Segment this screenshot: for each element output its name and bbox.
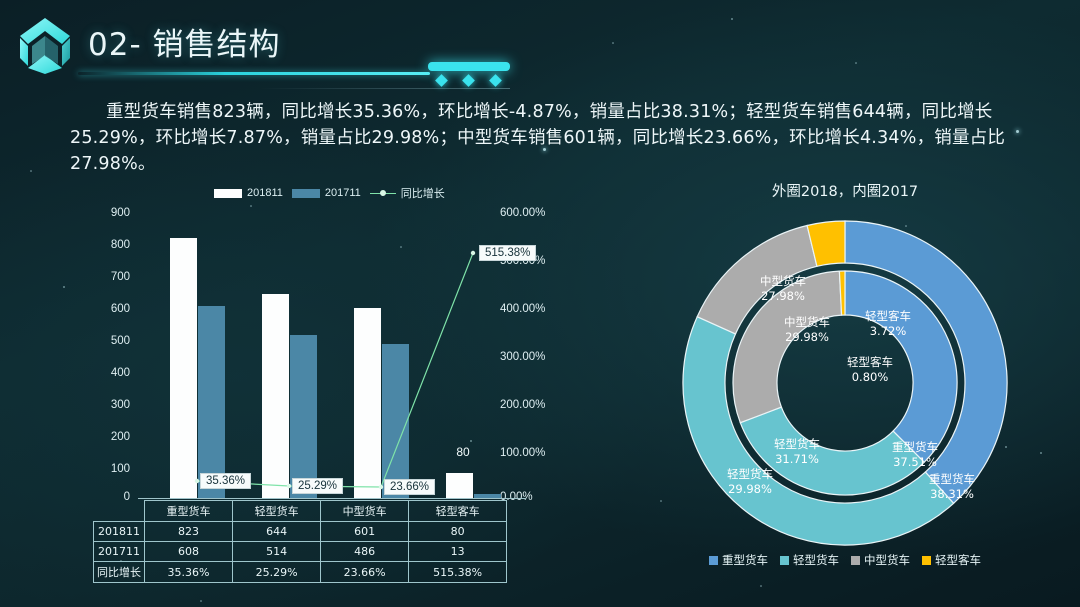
legend-label: 同比增长 bbox=[401, 185, 445, 201]
outer-label-light-truck-name: 轻型货车 bbox=[727, 467, 773, 481]
growth-line-series bbox=[138, 213, 526, 498]
table-row: 201711 608 514 486 13 bbox=[94, 542, 507, 562]
table-row: 201811 823 644 601 80 bbox=[94, 522, 507, 542]
legend-label: 201811 bbox=[247, 187, 283, 199]
inner-label-light-bus-value: 0.80% bbox=[852, 370, 889, 384]
legend-label: 轻型货车 bbox=[793, 552, 839, 568]
table-cell: 25.29% bbox=[233, 562, 321, 583]
outer-label-medium-truck-name: 中型货车 bbox=[760, 274, 806, 288]
table-cell: 608 bbox=[145, 542, 233, 562]
legend-line-icon bbox=[370, 189, 396, 198]
data-table: 重型货车 轻型货车 中型货车 轻型客车 201811 823 644 601 8… bbox=[93, 500, 507, 583]
table-cell: 35.36% bbox=[145, 562, 233, 583]
outer-label-medium-truck-value: 27.98% bbox=[761, 289, 805, 303]
table-cell: 515.38% bbox=[409, 562, 507, 583]
accent-diamond-icon bbox=[489, 74, 502, 87]
table-col-header: 轻型货车 bbox=[233, 501, 321, 522]
y-axis-tick: 300 bbox=[96, 399, 130, 411]
donut-chart: 外圈2018，内圈2017 bbox=[620, 180, 1070, 580]
table-cell: 23.66% bbox=[321, 562, 409, 583]
table-header-row: 重型货车 轻型货车 中型货车 轻型客车 bbox=[94, 501, 507, 522]
legend-swatch-icon bbox=[922, 556, 931, 565]
y-axis-tick: 100 bbox=[96, 463, 130, 475]
table-cell: 644 bbox=[233, 522, 321, 542]
accent-diamond-icon bbox=[435, 74, 448, 87]
inner-label-medium-truck-name: 中型货车 bbox=[784, 315, 830, 329]
inner-label-heavy-truck-value: 37.51% bbox=[893, 455, 937, 469]
legend-item-growth: 同比增长 bbox=[370, 185, 445, 201]
outer-label-light-bus-name: 轻型客车 bbox=[865, 309, 911, 323]
bar-chart-legend: 201811 201711 同比增长 bbox=[214, 186, 445, 200]
growth-callout-1: 25.29% bbox=[292, 478, 343, 494]
y-axis-tick: 700 bbox=[96, 271, 130, 283]
table-cell: 486 bbox=[321, 542, 409, 562]
table-row-header: 同比增长 bbox=[94, 562, 145, 583]
legend-label: 重型货车 bbox=[722, 552, 768, 568]
y-axis-tick: 600 bbox=[96, 303, 130, 315]
table-cell: 823 bbox=[145, 522, 233, 542]
title-accent-bar bbox=[428, 62, 510, 71]
outer-label-light-bus-value: 3.72% bbox=[870, 324, 907, 338]
legend-label: 201711 bbox=[325, 187, 361, 199]
legend-swatch-icon bbox=[780, 556, 789, 565]
y-axis-tick: 500 bbox=[96, 335, 130, 347]
title-underline-secondary bbox=[260, 88, 510, 89]
legend-item-201811: 201811 bbox=[214, 187, 283, 199]
legend-item-medium-truck: 中型货车 bbox=[851, 552, 910, 568]
table-cell: 13 bbox=[409, 542, 507, 562]
legend-item-light-bus: 轻型客车 bbox=[922, 552, 981, 568]
legend-label: 中型货车 bbox=[864, 552, 910, 568]
legend-swatch-icon bbox=[292, 189, 320, 198]
y-axis-tick: 400 bbox=[96, 367, 130, 379]
inner-label-medium-truck-value: 29.98% bbox=[785, 330, 829, 344]
table-row: 同比增长 35.36% 25.29% 23.66% 515.38% bbox=[94, 562, 507, 583]
table-cell: 80 bbox=[409, 522, 507, 542]
legend-item-201711: 201711 bbox=[292, 187, 361, 199]
table-col-header: 轻型客车 bbox=[409, 501, 507, 522]
legend-item-light-truck: 轻型货车 bbox=[780, 552, 839, 568]
donut-chart-svg: 重型货车 37.51% 轻型货车 31.71% 中型货车 29.98% 轻型客车… bbox=[645, 218, 1045, 548]
legend-swatch-icon bbox=[851, 556, 860, 565]
title-underline bbox=[78, 72, 430, 75]
accent-diamond-icon bbox=[462, 74, 475, 87]
growth-callout-2: 23.66% bbox=[384, 479, 435, 495]
table-col-header: 重型货车 bbox=[145, 501, 233, 522]
legend-item-heavy-truck: 重型货车 bbox=[709, 552, 768, 568]
inner-label-light-truck-name: 轻型货车 bbox=[774, 437, 820, 451]
bar-plot-area: 823 644 601 80 35.36% 25.29% bbox=[138, 213, 526, 498]
growth-callout-3: 515.38% bbox=[479, 245, 536, 261]
diamond-logo-icon bbox=[14, 14, 76, 76]
legend-label: 轻型客车 bbox=[935, 552, 981, 568]
y-axis-tick: 900 bbox=[96, 207, 130, 219]
x-axis-line bbox=[138, 498, 526, 499]
outer-label-heavy-truck-name: 重型货车 bbox=[929, 472, 975, 486]
y-axis-tick: 800 bbox=[96, 239, 130, 251]
table-col-header: 中型货车 bbox=[321, 501, 409, 522]
table-corner-cell bbox=[94, 501, 145, 522]
donut-chart-title: 外圈2018，内圈2017 bbox=[620, 180, 1070, 201]
outer-label-light-truck-value: 29.98% bbox=[728, 482, 772, 496]
legend-swatch-icon bbox=[709, 556, 718, 565]
inner-label-light-truck-value: 31.71% bbox=[775, 452, 819, 466]
page-title: 02- 销售结构 bbox=[88, 19, 281, 64]
legend-swatch-icon bbox=[214, 189, 242, 198]
y-axis-tick: 200 bbox=[96, 431, 130, 443]
table-row-header: 201811 bbox=[94, 522, 145, 542]
table-cell: 514 bbox=[233, 542, 321, 562]
slide-canvas: 02- 销售结构 重型货车销售823辆，同比增长35.36%，环比增长-4.87… bbox=[0, 0, 1080, 607]
outer-label-heavy-truck-value: 38.31% bbox=[930, 487, 974, 501]
inner-label-light-bus-name: 轻型客车 bbox=[847, 355, 893, 369]
summary-paragraph: 重型货车销售823辆，同比增长35.36%，环比增长-4.87%，销量占比38.… bbox=[70, 99, 1030, 177]
inner-label-heavy-truck-name: 重型货车 bbox=[892, 440, 938, 454]
donut-chart-legend: 重型货车 轻型货车 中型货车 轻型客车 bbox=[620, 552, 1070, 568]
table-row-header: 201711 bbox=[94, 542, 145, 562]
table-cell: 601 bbox=[321, 522, 409, 542]
growth-callout-0: 35.36% bbox=[200, 473, 251, 489]
